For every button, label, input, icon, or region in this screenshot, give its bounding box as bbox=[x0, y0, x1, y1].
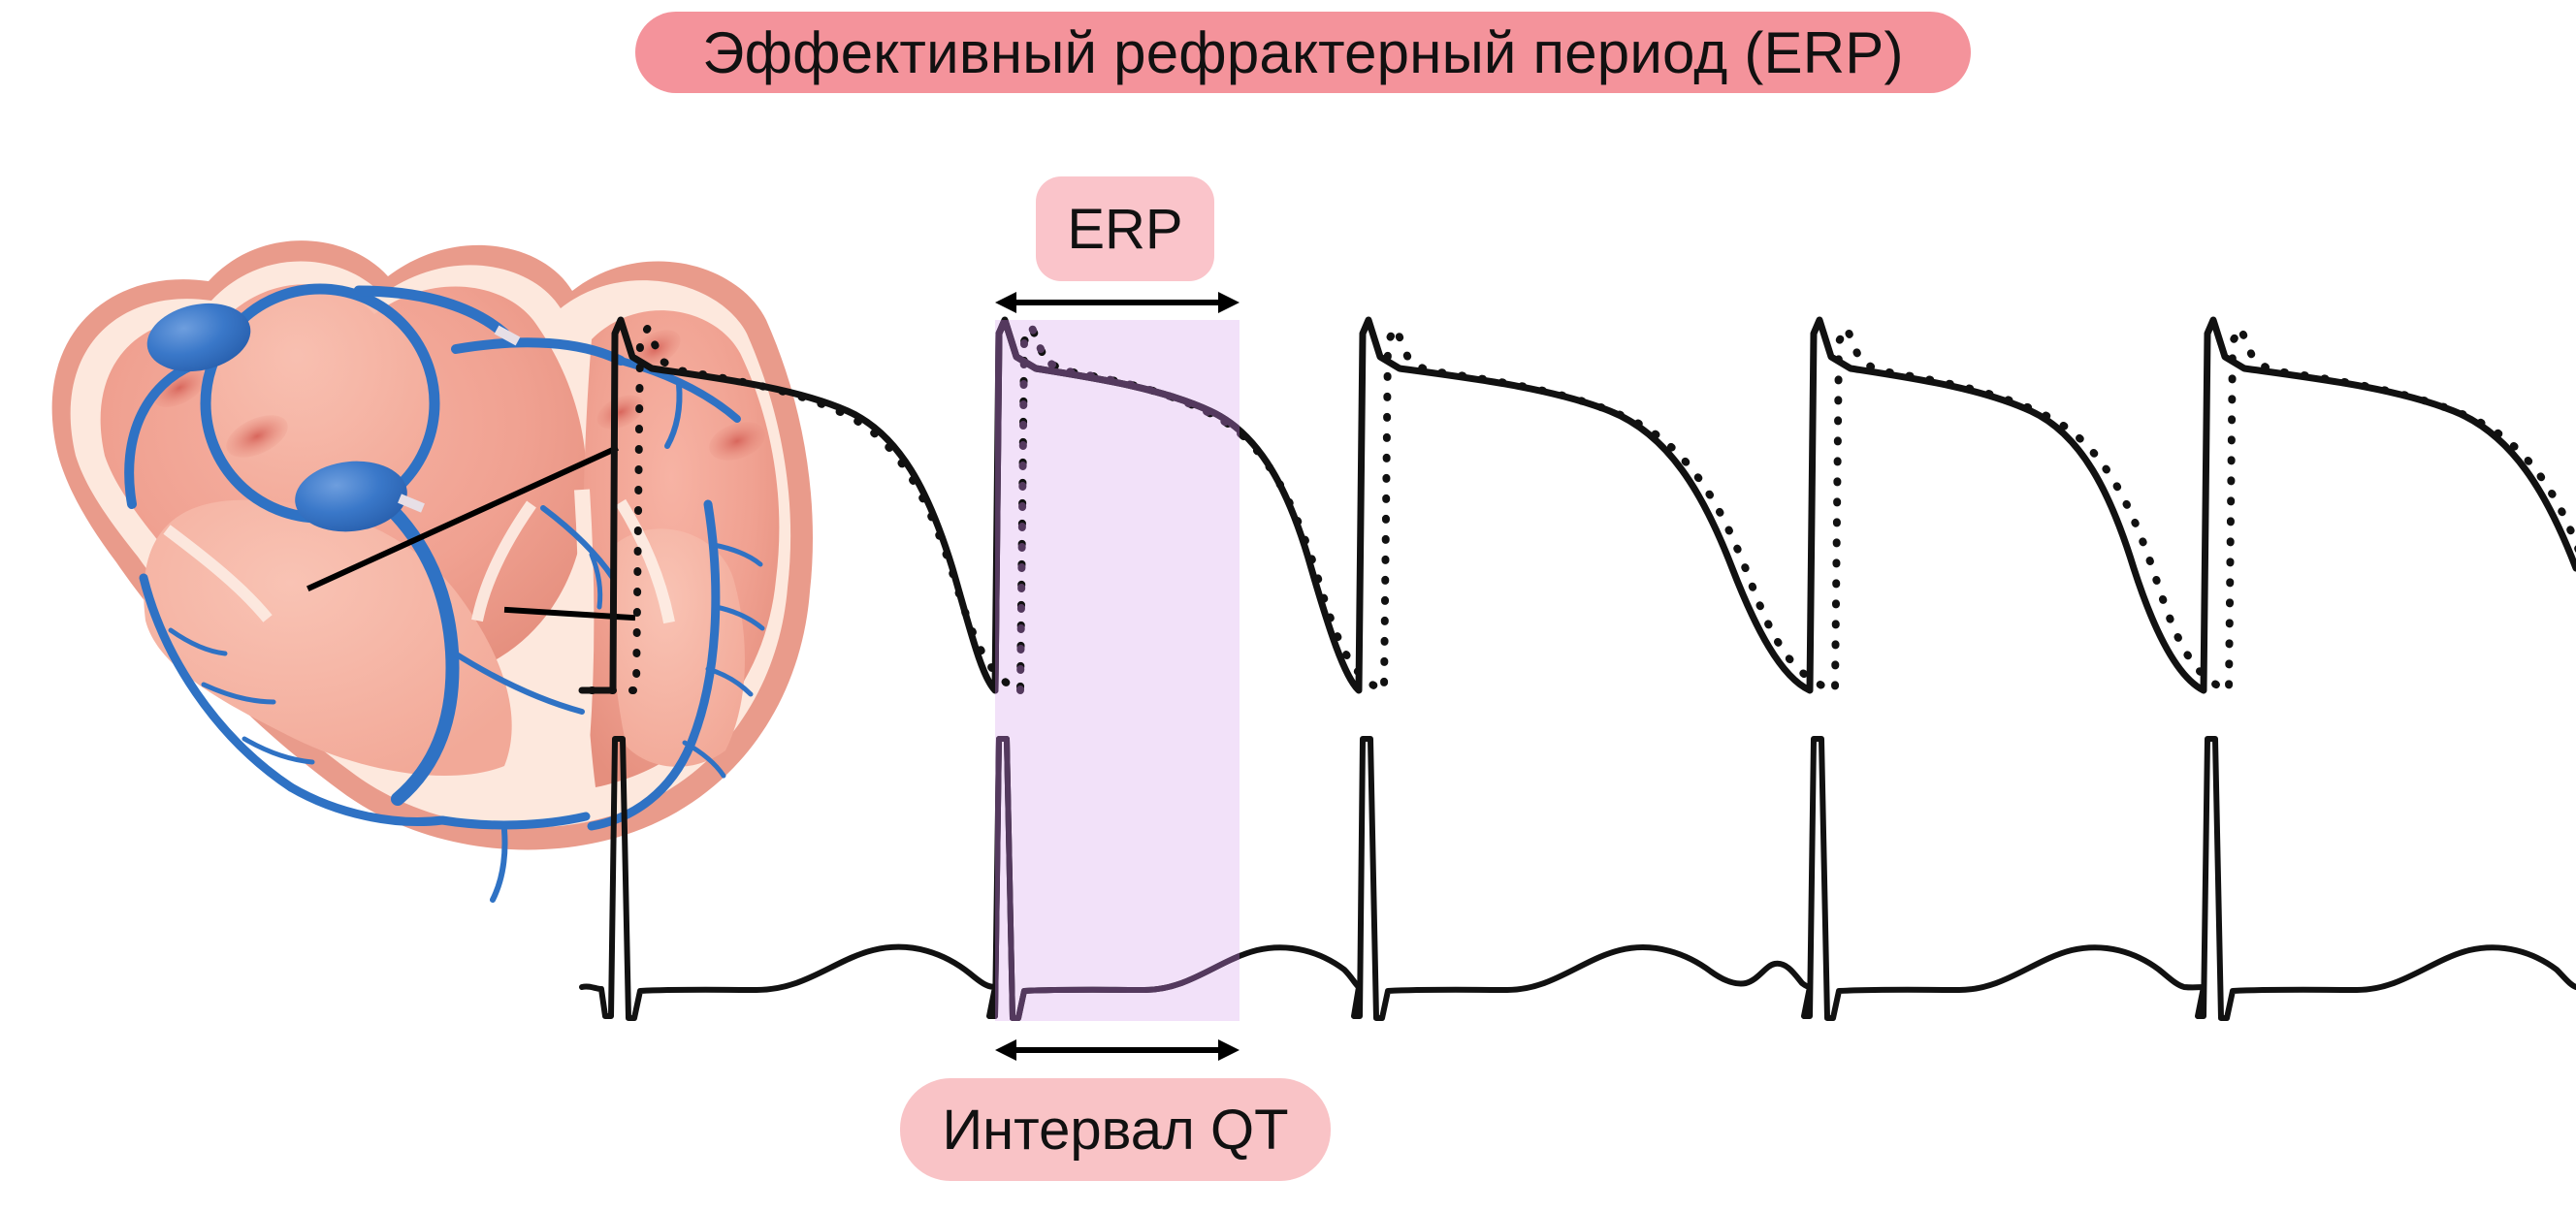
page-title: Эффективный рефрактерный период (ERP) bbox=[635, 12, 1971, 93]
qt-interval-label: Интервал QT bbox=[900, 1078, 1331, 1181]
erp-label: ERP bbox=[1036, 176, 1214, 281]
qt-arrow bbox=[0, 0, 2576, 1212]
diagram-canvas: Эффективный рефрактерный период (ERP) ER… bbox=[0, 0, 2576, 1212]
